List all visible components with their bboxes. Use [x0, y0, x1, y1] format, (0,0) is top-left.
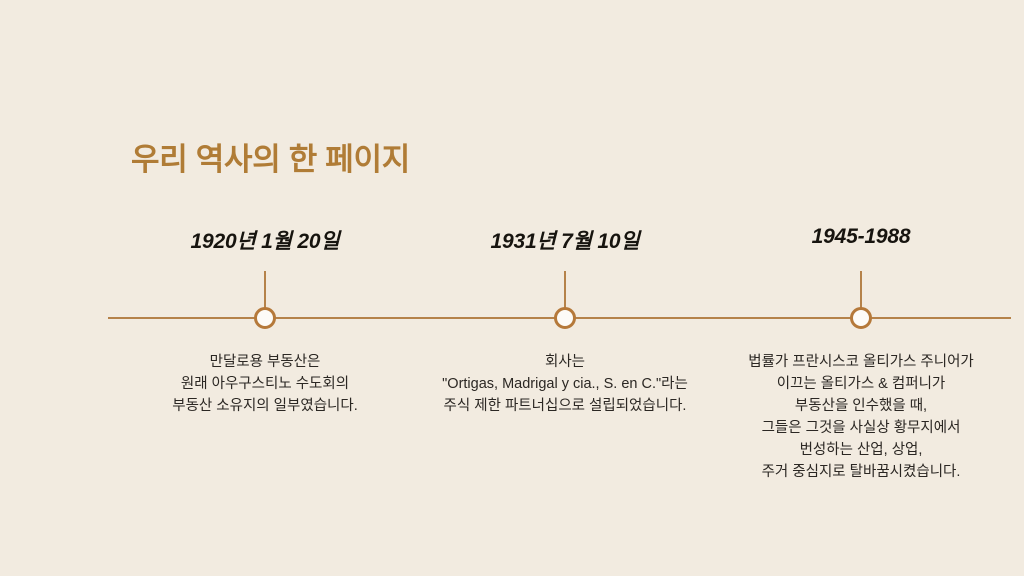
- event-connector-stem: [264, 271, 266, 308]
- event-date-label: 1931년 7월 10일: [491, 225, 640, 255]
- event-marker-circle-icon[interactable]: [554, 307, 576, 329]
- event-description: 법률가 프란시스코 올티가스 주니어가 이끄는 올티가스 & 컴퍼니가 부동산을…: [706, 351, 1016, 483]
- event-marker-circle-icon[interactable]: [850, 307, 872, 329]
- event-description: 회사는 "Ortigas, Madrigal y cia., S. en C."…: [400, 351, 730, 417]
- event-connector-stem: [564, 271, 566, 308]
- timeline-slide: 우리 역사의 한 페이지 1920년 1월 20일 만달로용 부동산은 원래 아…: [0, 0, 1024, 576]
- event-date-label: 1920년 1월 20일: [191, 225, 340, 255]
- event-description: 만달로용 부동산은 원래 아우구스티노 수도회의 부동산 소유지의 일부였습니다…: [115, 351, 415, 417]
- page-title: 우리 역사의 한 페이지: [131, 134, 410, 179]
- event-date-label: 1945-1988: [812, 225, 911, 249]
- event-connector-stem: [860, 271, 862, 308]
- event-marker-circle-icon[interactable]: [254, 307, 276, 329]
